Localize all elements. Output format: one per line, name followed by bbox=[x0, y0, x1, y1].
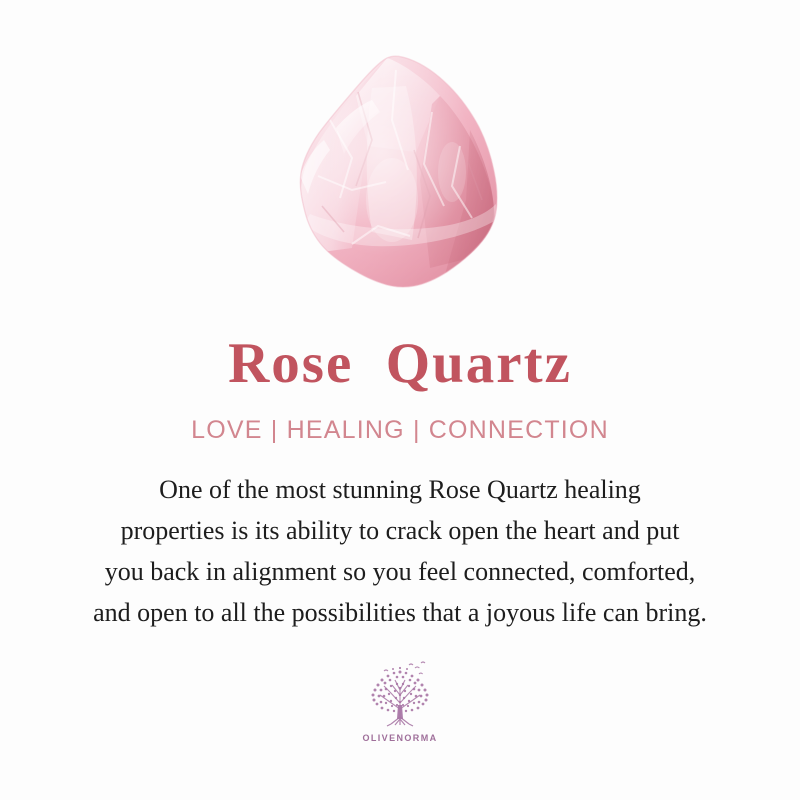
description-line: and open to all the possibilities that a… bbox=[20, 592, 780, 633]
tree-of-life-icon bbox=[357, 659, 443, 731]
rose-quartz-product-card: Rose Quartz LOVE | HEALING | CONNECTION … bbox=[0, 0, 800, 800]
product-description: One of the most stunning Rose Quartz hea… bbox=[20, 469, 780, 633]
rose-quartz-crystal-icon bbox=[0, 0, 800, 320]
keyword-tagline: LOVE | HEALING | CONNECTION bbox=[191, 416, 609, 445]
description-line: properties is its ability to crack open … bbox=[20, 510, 780, 551]
brand-logo: OLIVENORMA bbox=[357, 659, 443, 743]
description-line: you back in alignment so you feel connec… bbox=[20, 551, 780, 592]
hero-image-area bbox=[0, 0, 800, 320]
birds-icon bbox=[384, 662, 425, 674]
description-line: One of the most stunning Rose Quartz hea… bbox=[20, 469, 780, 510]
page-title: Rose Quartz bbox=[228, 334, 572, 394]
brand-wordmark: OLIVENORMA bbox=[362, 733, 437, 743]
